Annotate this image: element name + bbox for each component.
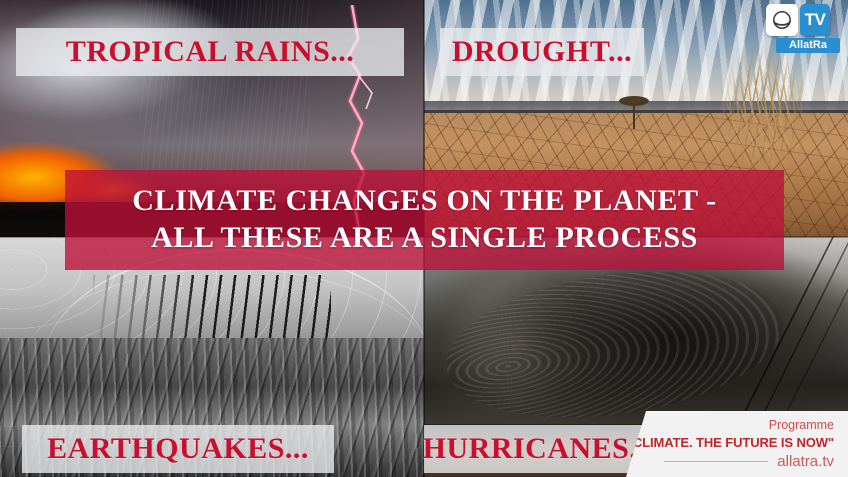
headline-line-1: CLIMATE CHANGES ON THE PLANET - bbox=[132, 184, 717, 219]
label-tropical-rains-text: TROPICAL RAINS... bbox=[66, 35, 355, 69]
label-hurricanes: HURRICANES... bbox=[424, 425, 652, 473]
label-tropical-rains: TROPICAL RAINS... bbox=[16, 28, 404, 76]
label-earthquakes: EARTHQUAKES... bbox=[22, 425, 334, 473]
lone-tree-icon bbox=[615, 79, 653, 129]
poster-canvas: TROPICAL RAINS... DROUGHT... EARTHQUAKES… bbox=[0, 0, 848, 477]
label-hurricanes-text: HURRICANES... bbox=[423, 432, 654, 466]
logo-brand-name: AllatRa bbox=[776, 38, 840, 53]
allatra-tv-logo[interactable]: TV AllatRa bbox=[766, 4, 840, 52]
programme-badge[interactable]: Programme "CLIMATE. THE FUTURE IS NOW" a… bbox=[626, 411, 848, 477]
label-drought-text: DROUGHT... bbox=[452, 35, 632, 69]
label-earthquakes-text: EARTHQUAKES... bbox=[47, 432, 309, 466]
logo-tv-badge: TV bbox=[800, 4, 830, 36]
logo-mark bbox=[766, 4, 798, 36]
headline-line-2: ALL THESE ARE A SINGLE PROCESS bbox=[151, 221, 698, 256]
badge-divider bbox=[664, 461, 768, 462]
website-link[interactable]: allatra.tv bbox=[777, 453, 834, 470]
programme-title: "CLIMATE. THE FUTURE IS NOW" bbox=[627, 434, 834, 452]
rain-streaks-overlay bbox=[140, 0, 310, 178]
sphere-globe-icon bbox=[771, 9, 793, 31]
programme-label: Programme bbox=[769, 418, 834, 434]
logo-row: TV bbox=[766, 4, 840, 36]
label-drought: DROUGHT... bbox=[440, 28, 644, 76]
headline-banner: CLIMATE CHANGES ON THE PLANET - ALL THES… bbox=[65, 170, 784, 270]
badge-footer: allatra.tv bbox=[652, 453, 834, 470]
